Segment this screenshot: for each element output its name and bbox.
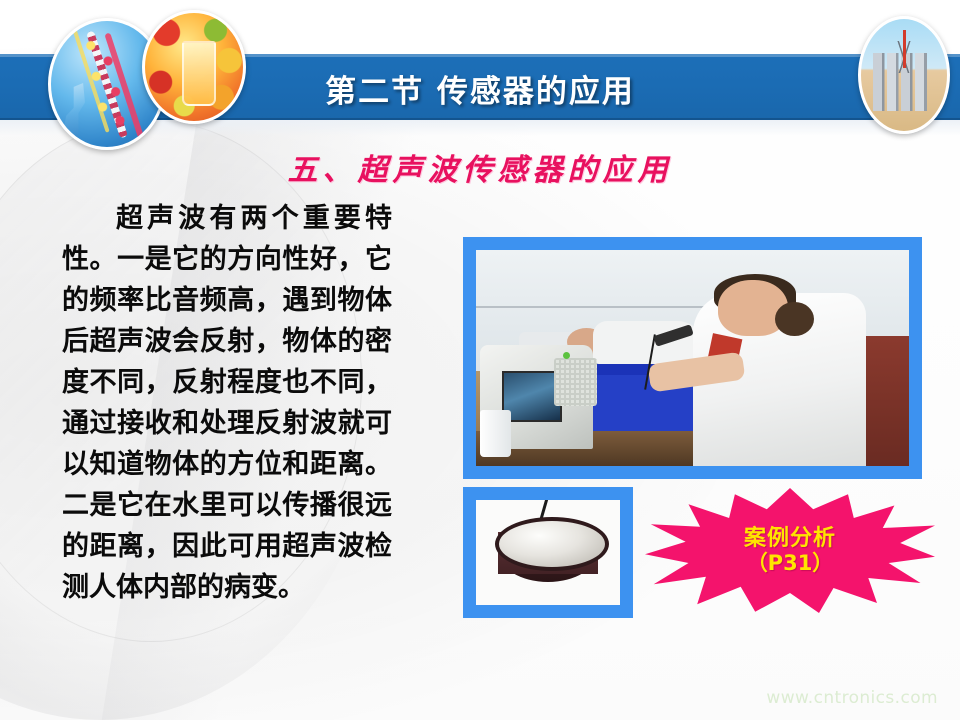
exam-scene <box>476 250 909 466</box>
footer-url: www.cntronics.com <box>766 688 938 708</box>
callout-line-2: （P31） <box>747 551 834 575</box>
transducer-scene <box>476 500 620 605</box>
ultrasonic-transducer-photo-frame <box>463 487 633 618</box>
body-paragraph: 超声波有两个重要特性。一是它的方向性好，它的频率比音频高，遇到物体后超声波会反射… <box>62 198 392 608</box>
slide-canvas: 第二节 传感器的应用 五、超声波传感器的应用 超声波有两个重要特性。一是它的方向… <box>0 0 960 720</box>
ultrasonic-transducer-photo <box>476 500 620 605</box>
grain-silo-circle-icon <box>858 16 950 134</box>
callout-text: 案例分析 （P31） <box>645 488 935 613</box>
scene-gel-bottle <box>480 410 510 458</box>
callout-line-1: 案例分析 <box>744 526 836 552</box>
section-subtitle: 五、超声波传感器的应用 <box>0 145 960 189</box>
case-study-callout[interactable]: 案例分析 （P31） <box>645 488 935 613</box>
silo-mast-shape <box>903 30 906 68</box>
dna-beads-shape <box>80 36 134 132</box>
ultrasound-exam-photo <box>476 250 909 466</box>
scene-machine-keypad <box>554 358 597 406</box>
scene-machine-indicator <box>563 352 570 359</box>
scene-doctor-hair-bun <box>775 302 814 337</box>
juice-glass-shape <box>182 41 215 105</box>
food-juice-circle-icon <box>142 10 246 124</box>
transducer-face <box>495 517 610 571</box>
ultrasound-exam-photo-frame <box>463 237 922 479</box>
